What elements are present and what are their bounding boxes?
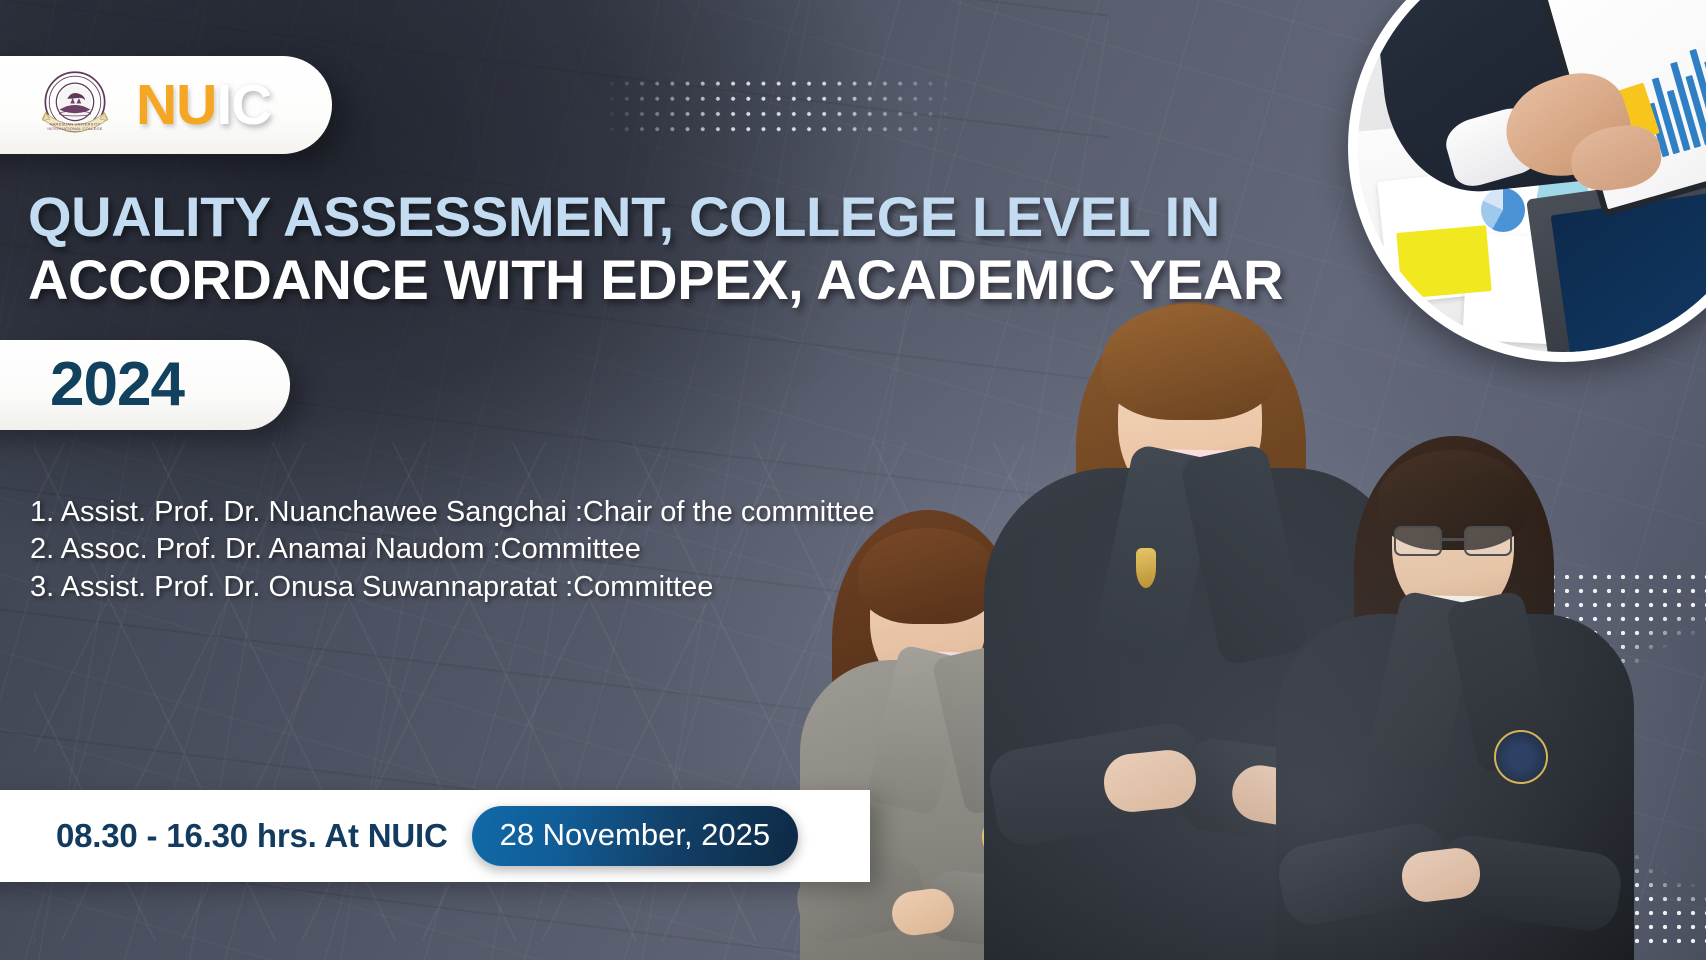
person-left-hair-top — [858, 528, 998, 624]
event-time-location: 08.30 - 16.30 hrs. At NUIC — [56, 817, 448, 855]
academic-year-value: 2024 — [50, 354, 184, 416]
academic-year-badge: 2024 — [0, 340, 290, 430]
brand-wordmark-ic: IC — [216, 77, 271, 134]
event-details-bar: 08.30 - 16.30 hrs. At NUIC 28 November, … — [0, 790, 870, 882]
event-date-badge: 28 November, 2025 — [472, 806, 799, 866]
list-item: 3. Assist. Prof. Dr. Onusa Suwannapratat… — [30, 569, 875, 606]
svg-text:INTERNATIONAL COLLEGE: INTERNATIONAL COLLEGE — [47, 126, 102, 131]
person-center-hair-top — [1102, 304, 1278, 420]
brand-wordmark: NUIC — [136, 77, 271, 134]
list-item: 1. Assist. Prof. Dr. Nuanchawee Sangchai… — [30, 494, 875, 531]
person-right-glasses-icon — [1394, 526, 1512, 556]
brand-wordmark-nu: NU — [136, 77, 216, 134]
brand-logo-pill: NARESUAN UNIVERSITY INTERNATIONAL COLLEG… — [0, 56, 332, 154]
person-right-pocket-emblem-icon — [1494, 730, 1548, 784]
photo-pie-chart-icon — [1481, 188, 1525, 232]
person-right — [1276, 400, 1636, 960]
headline-line-1: QUALITY ASSESSMENT, COLLEGE LEVEL IN — [28, 186, 1208, 249]
dot-grid-pattern-icon — [604, 76, 952, 138]
committee-list: 1. Assist. Prof. Dr. Nuanchawee Sangchai… — [30, 494, 875, 606]
committee-members-photo — [796, 260, 1706, 960]
list-item: 2. Assoc. Prof. Dr. Anamai Naudom :Commi… — [30, 531, 875, 568]
naresuan-university-seal-icon: NARESUAN UNIVERSITY INTERNATIONAL COLLEG… — [36, 66, 114, 144]
person-center-lapel-pin-icon — [1136, 548, 1156, 588]
event-banner: NARESUAN UNIVERSITY INTERNATIONAL COLLEG… — [0, 0, 1706, 960]
